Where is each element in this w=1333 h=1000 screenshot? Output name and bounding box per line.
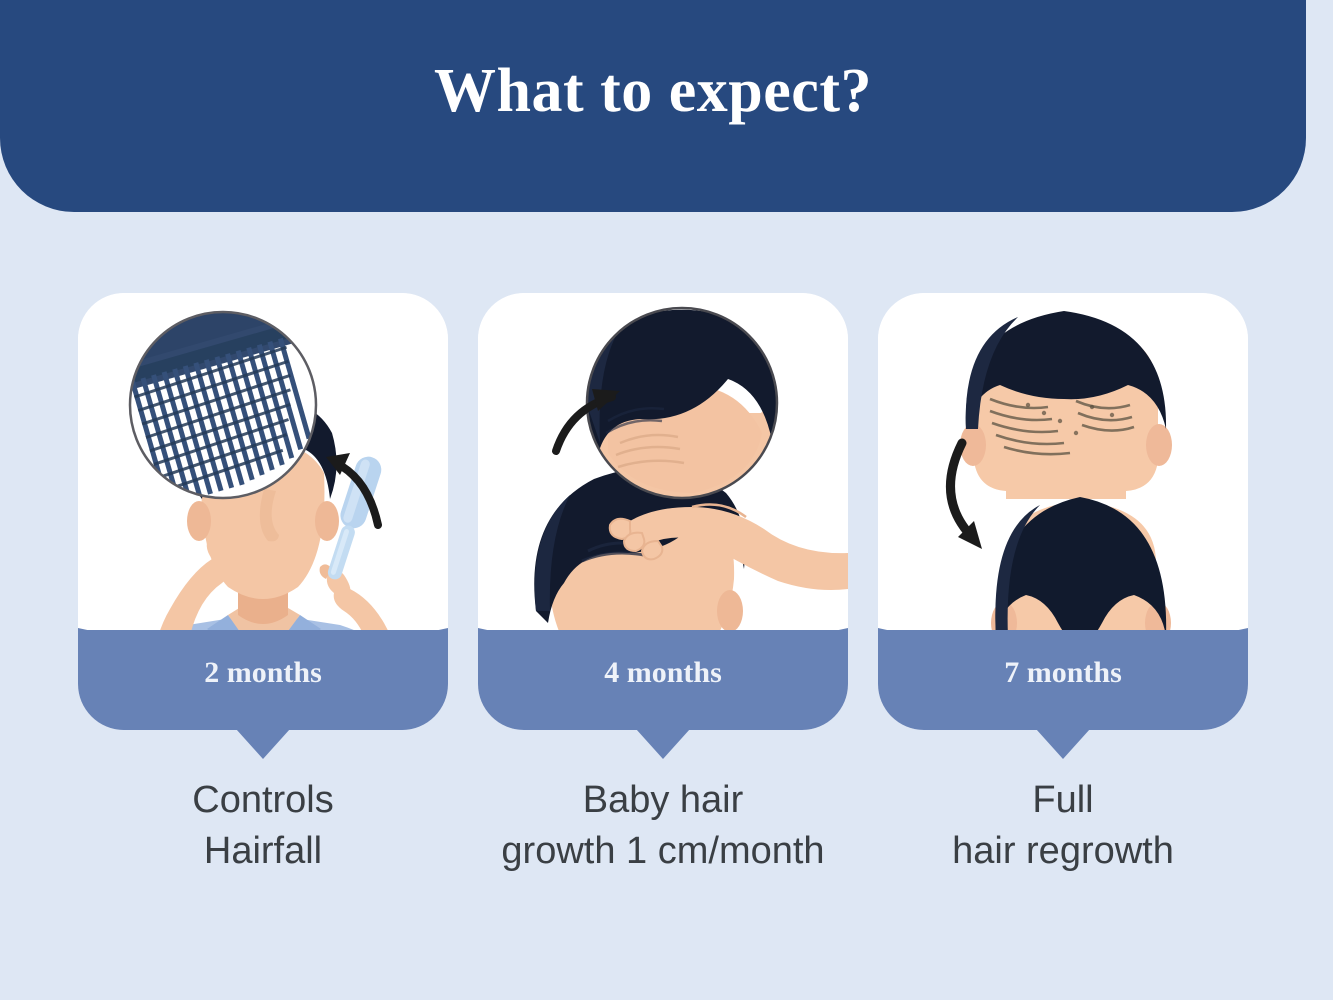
caption-line-2: Hairfall [78,826,448,877]
timeline-card-7-months[interactable]: 7 months [878,293,1248,763]
timeline-card-2-months[interactable]: 2 months [78,293,448,763]
caption-line-1: Controls [192,779,334,821]
card-pointer-tail [236,729,290,759]
timeline-cards: 2 months [78,293,1248,763]
card-pointer-tail [636,729,690,759]
card-pointer-tail [1036,729,1090,759]
card-label-4-months: 4 months [478,656,848,690]
caption-2-months: Controls Hairfall [78,775,448,876]
caption-line-2: hair regrowth [878,826,1248,877]
caption-line-2: growth 1 cm/month [478,826,848,877]
caption-7-months: Full hair regrowth [878,775,1248,876]
caption-line-1: Full [1032,779,1093,821]
card-label-7-months: 7 months [878,656,1248,690]
infographic-page: What to expect? [0,0,1333,1000]
caption-4-months: Baby hair growth 1 cm/month [478,775,848,876]
caption-row: Controls Hairfall Baby hair growth 1 cm/… [78,775,1248,876]
card-label-2-months: 2 months [78,656,448,690]
header-banner: What to expect? [0,0,1306,212]
timeline-card-4-months[interactable]: 4 months [478,293,848,763]
caption-line-1: Baby hair [583,779,744,821]
page-title: What to expect? [0,56,1306,127]
